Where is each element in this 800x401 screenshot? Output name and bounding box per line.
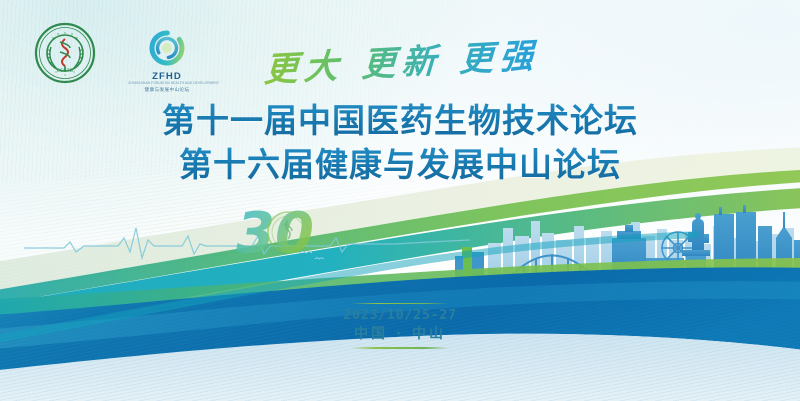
event-location: 中国 · 中山 [0,323,800,343]
slogan-calligraphy: 更大 更新 更强 [263,36,540,90]
csbtb-acronym-text: CSBTB [57,68,74,74]
zfhd-english-subtitle: ZHONGSHAN FORUM ON HEALTH AND DEVELOPMEN… [128,83,206,87]
logo-row: CSBTB [34,22,198,93]
date-rule-bottom [351,347,449,348]
zfhd-acronym: ZFHD [136,72,198,82]
conference-title-line-1: 第十一届中国医药生物技术论坛 [0,99,800,143]
svg-text:更大 更新 更强: 更大 更新 更强 [263,36,540,90]
csbtb-emblem: CSBTB [34,22,96,84]
date-rule-top [351,303,449,304]
event-info-block: 2023/10/25-27 中国 · 中山 [0,299,800,349]
zfhd-ring-icon [145,26,189,70]
conference-title-line-2: 第十六届健康与发展中山论坛 [0,143,800,187]
zfhd-chinese-subtitle: 健康与发展中山论坛 [136,87,198,93]
event-date: 2023/10/25-27 [0,307,800,323]
zfhd-logo: ZFHD ZHONGSHAN FORUM ON HEALTH AND DEVEL… [136,26,198,93]
title-block: 第十一届中国医药生物技术论坛 第十六届健康与发展中山论坛 [0,99,800,187]
conference-banner: 更大 更新 更强 30 [0,0,800,401]
